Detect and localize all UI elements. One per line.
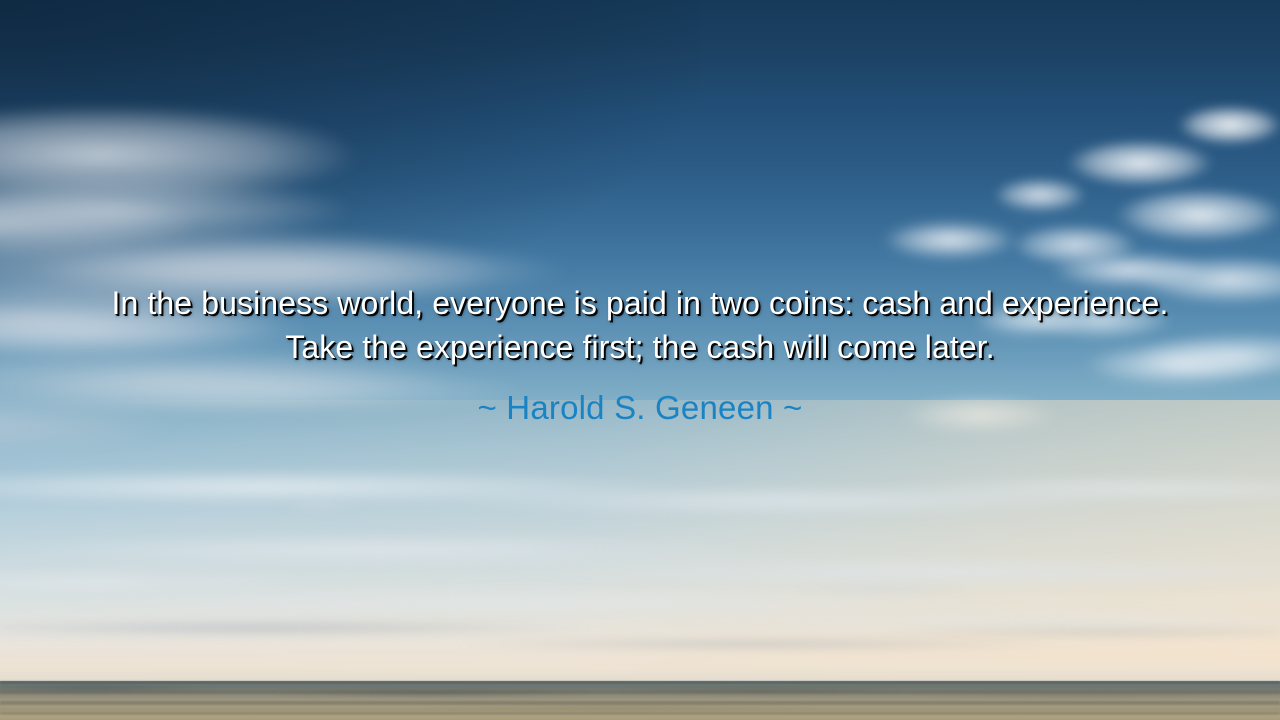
- quote-block: In the business world, everyone is paid …: [0, 281, 1280, 427]
- land-texture: [0, 681, 1280, 720]
- sky-warm-haze-right: [0, 400, 1280, 690]
- quote-image-scene: In the business world, everyone is paid …: [0, 0, 1280, 720]
- quote-author: ~ Harold S. Geneen ~: [0, 389, 1280, 427]
- quote-text: In the business world, everyone is paid …: [80, 281, 1200, 369]
